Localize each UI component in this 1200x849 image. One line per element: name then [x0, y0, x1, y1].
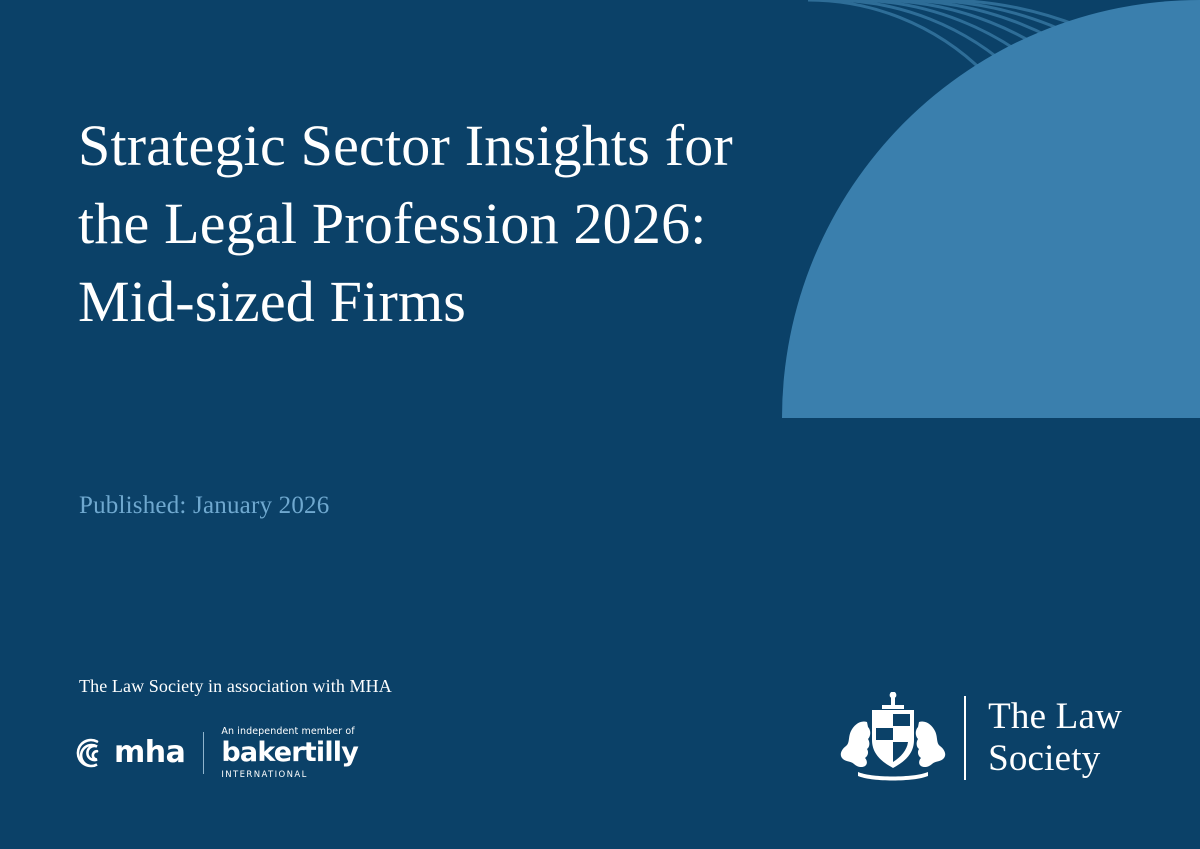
page-title: Strategic Sector Insights for the Legal …: [78, 107, 738, 341]
publication-date: Published: January 2026: [79, 492, 329, 520]
logo-divider: [203, 732, 204, 774]
mha-baker-tilly-logo: mha An independent member of bakertilly …: [75, 725, 358, 781]
baker-tilly-international-label: INTERNATIONAL: [221, 770, 358, 780]
law-society-crest-icon: [834, 692, 952, 784]
baker-tilly-block: An independent member of bakertilly INTE…: [221, 726, 358, 780]
baker-tilly-eyebrow: An independent member of: [221, 726, 358, 737]
mha-wordmark: mha: [114, 738, 185, 768]
mha-spiral-icon: [75, 738, 105, 768]
law-society-wordmark-line2: Society: [988, 738, 1100, 779]
law-society-wordmark: The Law Society: [988, 696, 1122, 780]
association-line: The Law Society in association with MHA: [79, 676, 392, 697]
law-society-divider: [964, 696, 966, 780]
decorative-arc-graphic: [780, 0, 1200, 560]
cover-page: Strategic Sector Insights for the Legal …: [0, 0, 1200, 849]
baker-tilly-wordmark: bakertilly: [221, 739, 358, 766]
law-society-wordmark-line1: The Law: [988, 696, 1122, 737]
law-society-logo: The Law Society: [834, 690, 1122, 786]
